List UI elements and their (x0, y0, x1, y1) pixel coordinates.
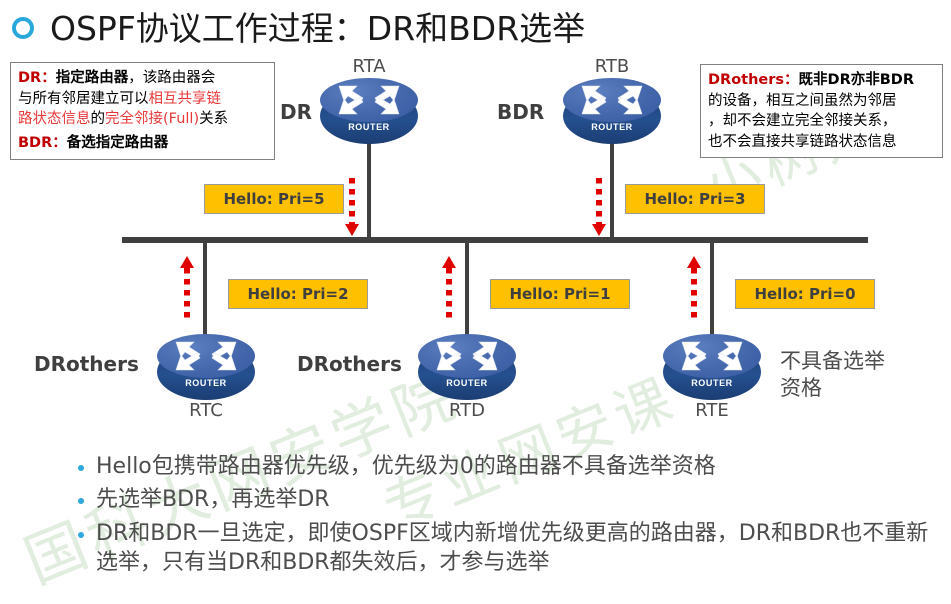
hello-arrow-rta (345, 178, 359, 240)
hello-box-rtc: Hello: Pri=2 (228, 279, 368, 309)
router-caption: ROUTER (663, 378, 761, 388)
router-caption: ROUTER (157, 378, 255, 388)
slide-canvas: 国科大网安学院 专业网安课 小树对你 OSPF协议工作过程：DR和BDR选举 D… (0, 0, 951, 604)
dr-line3-red-b: 完全邻接(Full) (105, 111, 199, 127)
bullet-dot-icon (78, 532, 84, 538)
rte-note-line-2: 资格 (780, 375, 885, 402)
router-caption: ROUTER (563, 122, 661, 132)
router-arrows-icon (676, 338, 748, 374)
dr-line3-red-a: 路状态信息 (18, 111, 91, 127)
drothers-line1-text: 既非DR亦非BDR (799, 72, 914, 88)
summary-bullet-list: Hello包携带路由器优先级，优先级为0的路由器不具备选举资格 先选举BDR，再… (78, 452, 938, 581)
dr-label: DR： (18, 70, 56, 86)
hello-box-rtb: Hello: Pri=3 (625, 184, 765, 214)
dr-definition-line-2: 与所有邻居建立可以相互共享链 (18, 89, 268, 110)
router-rta[interactable]: ROUTER (320, 78, 418, 148)
router-arrows-icon (431, 338, 503, 374)
title-bullet-icon (12, 17, 34, 39)
hello-arrow-rtc (180, 256, 194, 324)
drothers-definition-box: DRothers：既非DR亦非BDR 的设备，相互之间虽然为邻居 ，却不会建立完… (700, 64, 943, 158)
router-rtc[interactable]: ROUTER (157, 334, 255, 404)
drothers-label: DRothers： (708, 72, 799, 88)
dr-line2-red: 相互共享链 (149, 91, 222, 107)
bullet-dot-icon (78, 498, 84, 504)
list-item: Hello包携带路由器优先级，优先级为0的路由器不具备选举资格 (78, 452, 938, 481)
dr-line1-rest: ，该路由器会 (128, 70, 215, 86)
hello-arrow-rtd (442, 256, 456, 324)
dr-line3-black: 的 (91, 111, 106, 127)
router-name-rtd: RTD (418, 400, 516, 421)
hello-box-rta: Hello: Pri=5 (204, 184, 344, 214)
drothers-line-1: DRothers：既非DR亦非BDR (708, 70, 936, 91)
link-rtb-to-bus (610, 138, 614, 240)
rte-ineligible-note: 不具备选举 资格 (780, 348, 885, 402)
link-rta-to-bus (367, 138, 371, 240)
hello-box-rte: Hello: Pri=0 (735, 279, 875, 309)
router-name-rtc: RTC (157, 400, 255, 421)
router-name-rtb: RTB (563, 56, 661, 77)
drothers-line-4: 也不会直接共享链路状态信息 (708, 132, 936, 153)
bullet-text: Hello包携带路由器优先级，优先级为0的路由器不具备选举资格 (96, 452, 716, 481)
rte-note-line-1: 不具备选举 (780, 348, 885, 375)
router-role-rtb: BDR (497, 100, 544, 124)
link-bus-to-rtc (203, 240, 207, 340)
hello-arrow-rtb (592, 178, 606, 240)
link-bus-to-rte (710, 240, 714, 340)
drothers-line-2: 的设备，相互之间虽然为邻居 (708, 91, 936, 112)
dr-definition-line-1: DR：指定路由器，该路由器会 (18, 68, 268, 89)
router-caption: ROUTER (320, 122, 418, 132)
dr-line3-tail: 关系 (199, 111, 228, 127)
hello-arrow-rte (687, 256, 701, 324)
page-title: OSPF协议工作过程：DR和BDR选举 (50, 2, 585, 50)
router-caption: ROUTER (418, 378, 516, 388)
list-item: 先选举BDR，再选举DR (78, 485, 938, 514)
ethernet-bus-line (122, 237, 868, 243)
list-item: DR和BDR一旦选定，即使OSPF区域内新增优先级更高的路由器，DR和BDR也不… (78, 519, 938, 578)
bdr-definition-line: BDR：备选指定路由器 (18, 133, 268, 154)
dr-bold-term: 指定路由器 (56, 70, 129, 86)
dr-bdr-definition-box: DR：指定路由器，该路由器会 与所有邻居建立可以相互共享链 路状态信息的完全邻接… (10, 62, 275, 160)
router-name-rta: RTA (320, 56, 418, 77)
router-rtd[interactable]: ROUTER (418, 334, 516, 404)
router-arrows-icon (170, 338, 242, 374)
router-rtb[interactable]: ROUTER (563, 78, 661, 148)
router-rte[interactable]: ROUTER (663, 334, 761, 404)
router-name-rte: RTE (663, 400, 761, 421)
bdr-bold-term: 备选指定路由器 (67, 135, 169, 151)
router-arrows-icon (333, 82, 405, 118)
bdr-label: BDR： (18, 135, 67, 151)
router-role-rtd: DRothers (297, 352, 402, 376)
hello-box-rtd: Hello: Pri=1 (490, 279, 630, 309)
link-bus-to-rtd (465, 240, 469, 340)
bullet-text: 先选举BDR，再选举DR (96, 485, 330, 514)
router-role-rtc: DRothers (34, 352, 139, 376)
dr-line2-black: 与所有邻居建立可以 (18, 91, 149, 107)
bullet-text: DR和BDR一旦选定，即使OSPF区域内新增优先级更高的路由器，DR和BDR也不… (96, 519, 938, 578)
router-role-rta: DR (280, 100, 312, 124)
slide-title-row: OSPF协议工作过程：DR和BDR选举 (12, 2, 585, 50)
bullet-dot-icon (78, 465, 84, 471)
dr-definition-line-3: 路状态信息的完全邻接(Full)关系 (18, 109, 268, 130)
drothers-line-3: ，却不会建立完全邻接关系， (708, 111, 936, 132)
router-arrows-icon (576, 82, 648, 118)
